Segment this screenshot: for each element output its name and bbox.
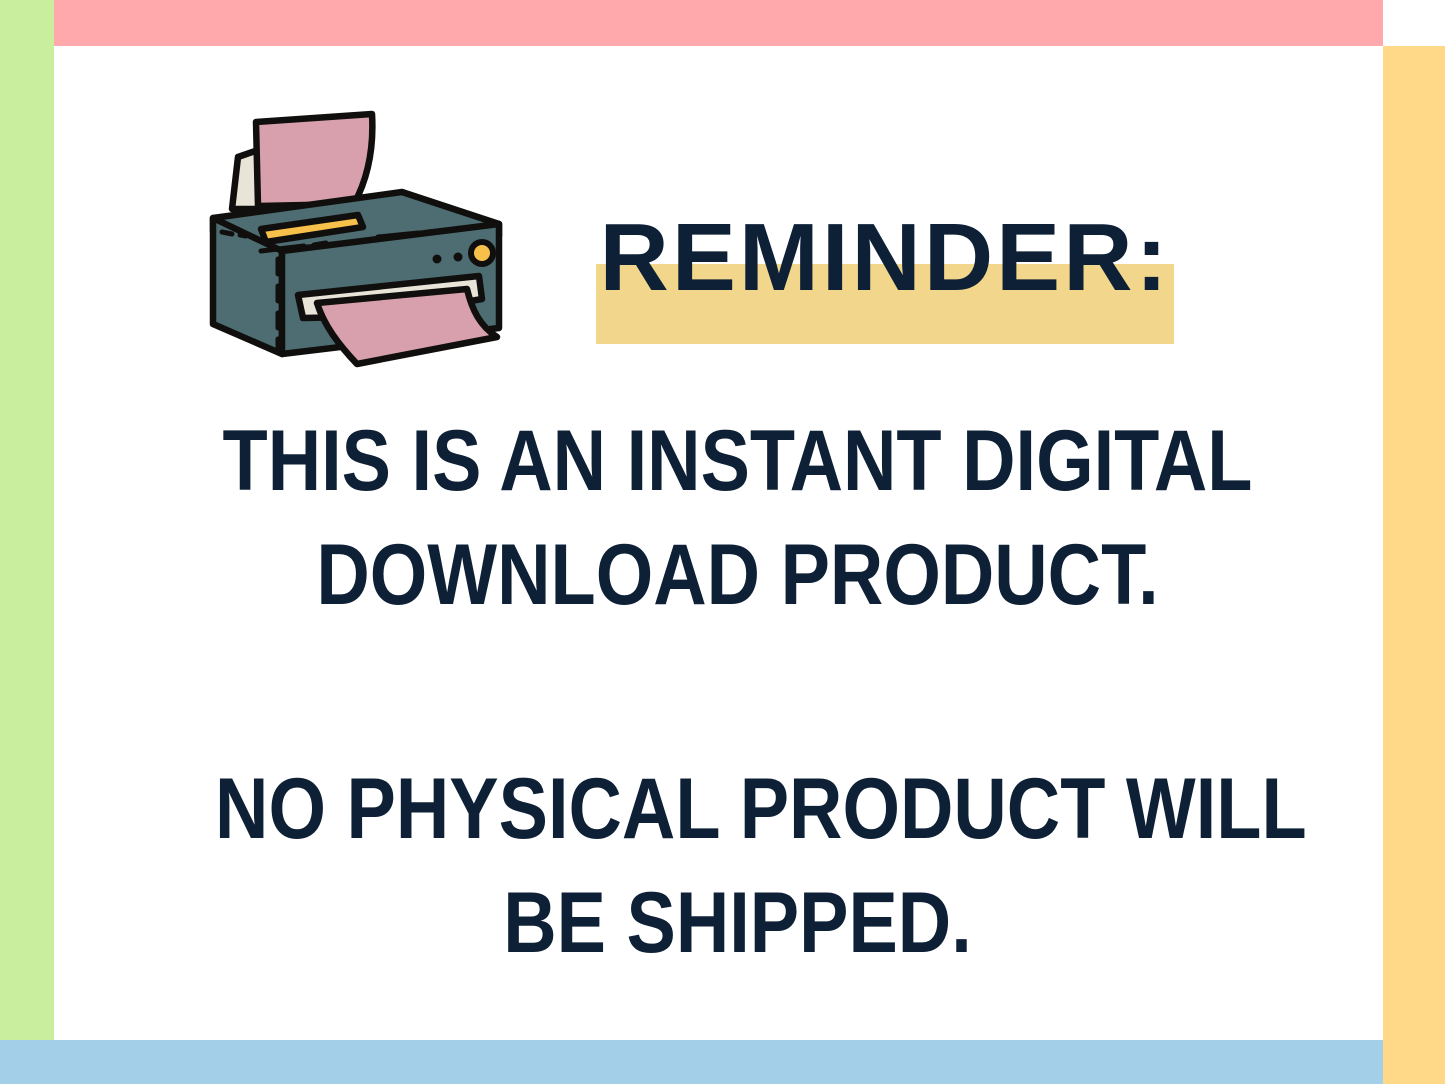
green-left-band (0, 0, 54, 1040)
message-line-4: BE SHIPPED. (215, 866, 1260, 980)
printer-icon (186, 96, 536, 386)
blue-bottom-band (0, 1040, 1383, 1084)
message-line-3: NO PHYSICAL PRODUCT WILL (215, 752, 1260, 866)
reminder-message: THIS IS AN INSTANT DIGITAL DOWNLOAD PROD… (130, 404, 1345, 980)
reminder-graphic-canvas: REMINDER: THIS IS AN INSTANT DIGITAL DOW… (0, 0, 1445, 1084)
yellow-right-band (1383, 46, 1445, 1084)
reminder-heading: REMINDER: (596, 205, 1196, 350)
pink-top-band (54, 0, 1383, 46)
paragraph-spacer (130, 632, 1345, 752)
message-line-1: THIS IS AN INSTANT DIGITAL (215, 404, 1260, 518)
heading-label: REMINDER: (596, 205, 1174, 311)
message-line-2: DOWNLOAD PRODUCT. (215, 518, 1260, 632)
